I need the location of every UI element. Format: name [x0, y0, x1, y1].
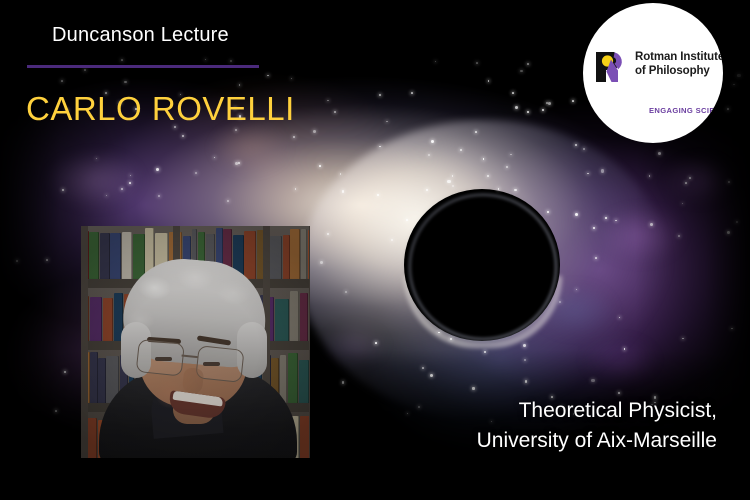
eyeglass-bridge: [182, 354, 198, 357]
book: [89, 232, 99, 279]
lecture-series-title: Duncanson Lecture: [52, 24, 229, 47]
rotman-r-logomark-icon: [594, 50, 628, 84]
shelf-upright: [309, 226, 310, 458]
rotman-institute-logo-badge: Rotman Institute of Philosophy ENGAGING …: [583, 3, 723, 143]
book: [288, 353, 299, 403]
book: [90, 352, 98, 403]
book: [299, 360, 310, 404]
book: [301, 229, 308, 279]
book: [300, 293, 308, 341]
speaker-affiliation: Theoretical Physicist, University of Aix…: [477, 396, 717, 456]
book: [290, 291, 300, 341]
book: [87, 418, 97, 458]
book: [283, 235, 290, 279]
logo-line-2: of Philosophy: [635, 65, 723, 79]
affiliation-line-2: University of Aix-Marseille: [477, 426, 717, 456]
book: [270, 236, 283, 279]
book: [103, 298, 113, 341]
black-hole-event-horizon: [416, 201, 546, 329]
logo-lockup: Rotman Institute of Philosophy: [594, 50, 723, 84]
book: [100, 233, 110, 279]
logo-wordmark: Rotman Institute of Philosophy: [635, 50, 723, 78]
book: [244, 231, 256, 280]
lecture-promo-slide: Duncanson Lecture CARLO ROVELLI Theoreti…: [0, 0, 750, 500]
logo-tagline: ENGAGING SCIENCE.: [649, 106, 723, 115]
speaker-portrait-photo: [81, 226, 310, 458]
book: [275, 299, 289, 341]
book: [90, 297, 103, 341]
book: [290, 229, 300, 279]
title-divider-rule: [27, 65, 259, 68]
book: [98, 358, 105, 403]
book: [122, 232, 132, 279]
shelf-upright: [81, 226, 88, 458]
book: [133, 234, 145, 279]
affiliation-line-1: Theoretical Physicist,: [477, 396, 717, 426]
speaker-name: CARLO ROVELLI: [26, 90, 295, 128]
logo-line-1: Rotman Institute: [635, 51, 723, 65]
book: [110, 233, 121, 279]
eyeglass-lens-left: [136, 339, 185, 377]
